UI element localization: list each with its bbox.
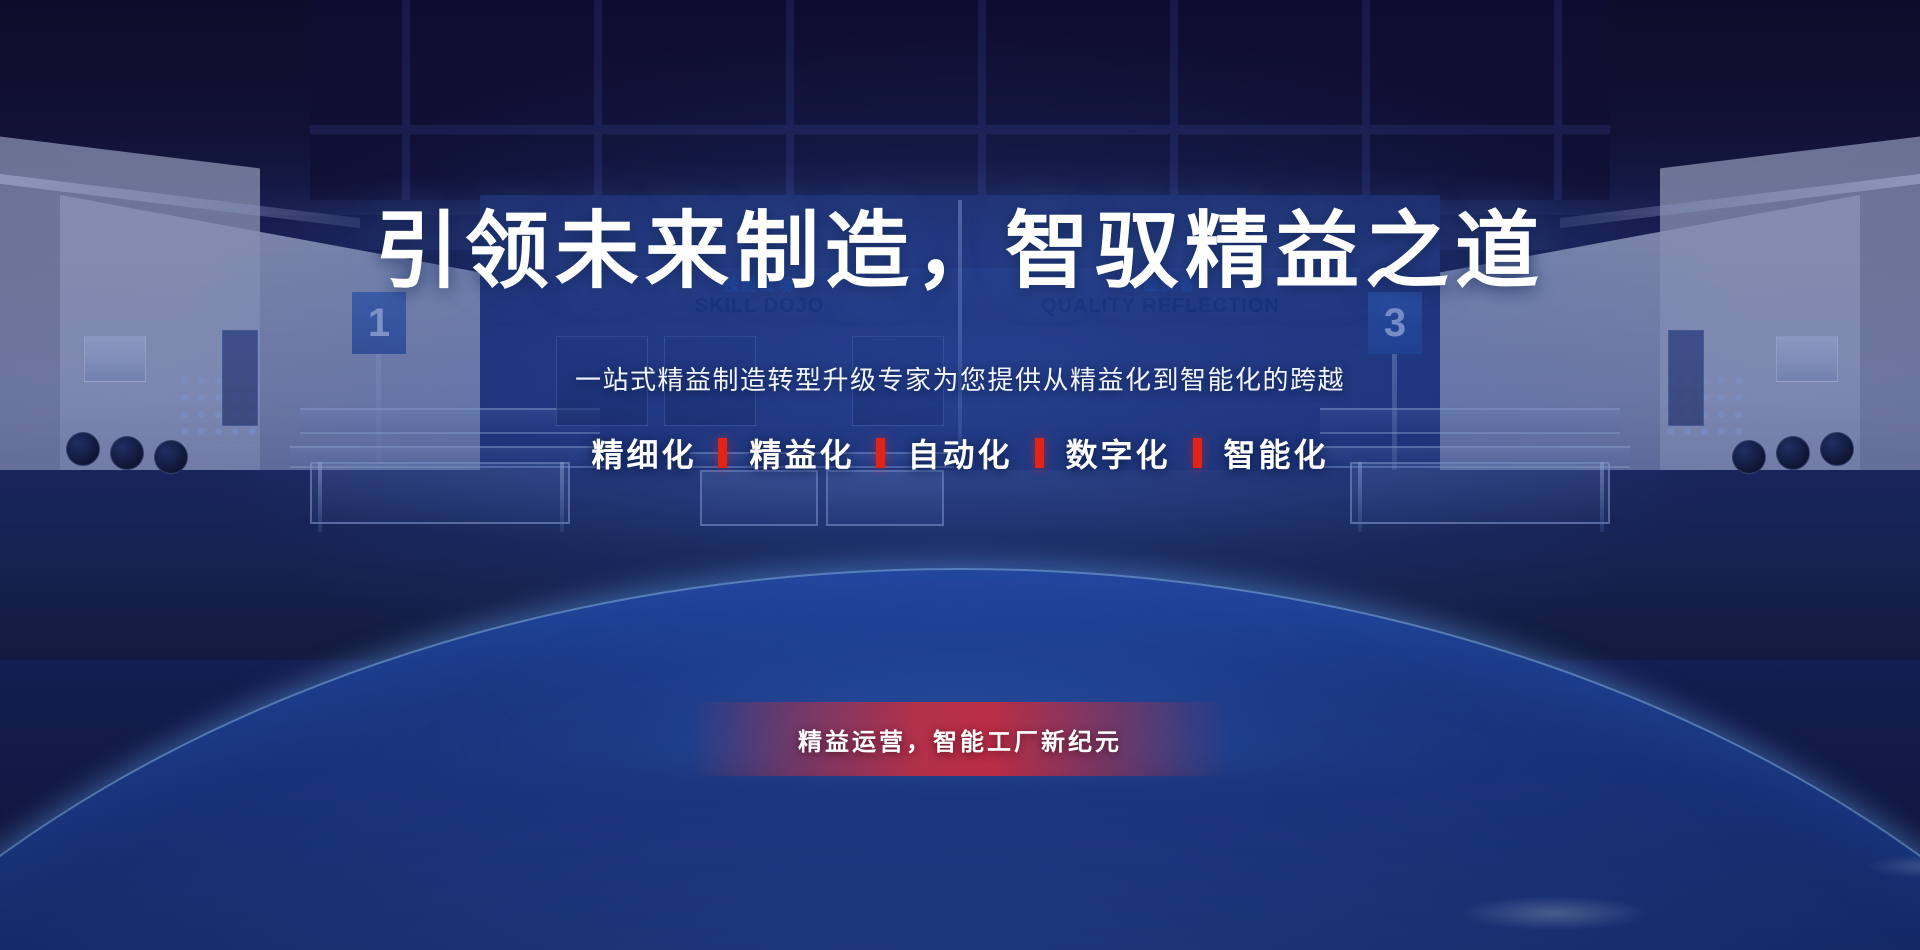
keyword-separator-icon-1: [876, 438, 885, 468]
keyword-separator-icon-0: [718, 438, 727, 468]
tagline-badge: 精益运营，智能工厂新纪元: [692, 702, 1228, 776]
keyword-list: 精细化 精益化 自动化 数字化 智能化: [0, 430, 1920, 476]
keyword-item-2: 自动化: [885, 430, 1034, 476]
keyword-separator-icon-2: [1035, 438, 1044, 468]
lean-manufacturing-hero-banner: 技能道场 SKILL DOJO 质量反省 QUALITY REFLECTION …: [0, 0, 1920, 950]
banner-content: 引领未来制造，智驭精益之道 一站式精益制造转型升级专家为您提供从精益化到智能化的…: [0, 0, 1920, 950]
keyword-item-1: 精益化: [727, 430, 876, 476]
keyword-separator-icon-3: [1193, 438, 1202, 468]
keyword-item-3: 数字化: [1044, 430, 1193, 476]
banner-subtitle: 一站式精益制造转型升级专家为您提供从精益化到智能化的跨越: [0, 360, 1920, 397]
keyword-item-4: 智能化: [1202, 430, 1351, 476]
page-title: 引领未来制造，智驭精益之道: [0, 184, 1920, 305]
tagline-badge-text: 精益运营，智能工厂新纪元: [798, 722, 1122, 757]
keyword-item-0: 精细化: [569, 430, 718, 476]
